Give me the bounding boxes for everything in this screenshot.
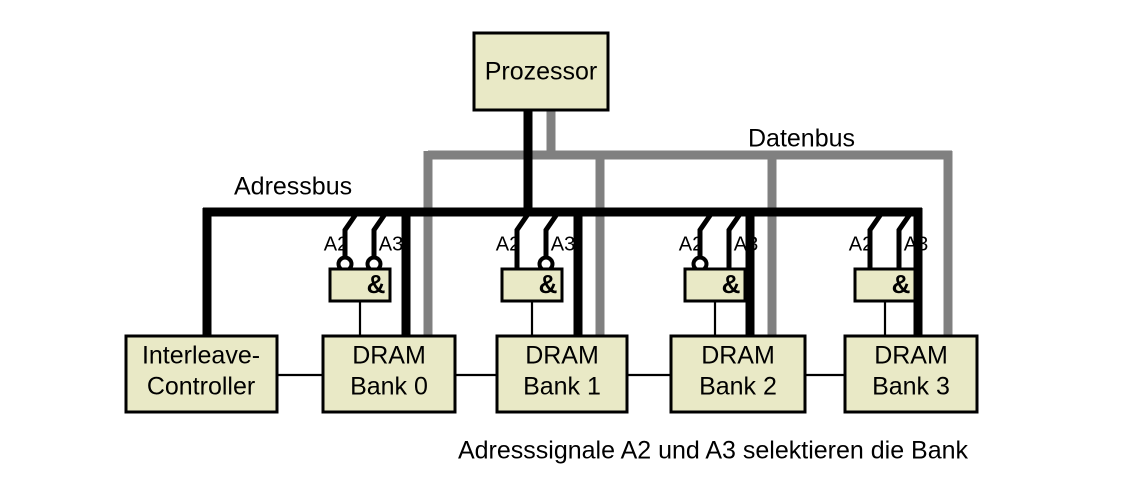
dram-bank-3-label-line1: DRAM	[874, 342, 948, 370]
dram-bank-1-label-line2: Bank 1	[523, 373, 601, 401]
dram-bank-3-label-line2: Bank 3	[872, 373, 950, 401]
dram-bank-1-label-line1: DRAM	[525, 342, 599, 370]
processor-label: Prozessor	[485, 58, 598, 86]
interleave-controller-label-line1: Interleave-	[142, 342, 260, 370]
dram-bank-0-label-line1: DRAM	[352, 342, 426, 370]
a3-label-bank2: A3	[734, 233, 758, 255]
a3-label-bank3: A3	[904, 233, 928, 255]
data-bus-label: Datenbus	[748, 125, 855, 153]
diagram-canvas: Adressbus Datenbus Prozessor A2 A3 & A2	[0, 0, 1146, 500]
gate-symbol-bank2: &	[722, 269, 741, 299]
gate-symbol-bank0: &	[367, 269, 386, 299]
a2-label-bank1: A2	[496, 233, 520, 255]
dram-bank-1-node[interactable]: DRAM Bank 1	[497, 336, 627, 412]
decode-group-bank1: A2 A3 &	[496, 214, 575, 336]
interleaving-diagram: Adressbus Datenbus Prozessor A2 A3 & A2	[0, 0, 1146, 500]
address-bus-label: Adressbus	[234, 173, 352, 201]
dram-bank-2-label-line1: DRAM	[701, 342, 775, 370]
a2-label-bank0: A2	[324, 233, 348, 255]
processor-node[interactable]: Prozessor	[474, 33, 608, 110]
dram-bank-0-node[interactable]: DRAM Bank 0	[323, 336, 455, 412]
a3-label-bank0: A3	[379, 233, 403, 255]
interleave-controller-label-line2: Controller	[147, 373, 255, 401]
dram-bank-2-label-line2: Bank 2	[699, 373, 777, 401]
interleave-controller-node[interactable]: Interleave- Controller	[126, 336, 277, 412]
a2-label-bank3: A2	[849, 233, 873, 255]
dram-bank-0-label-line2: Bank 0	[350, 373, 428, 401]
a2-label-bank2: A2	[679, 233, 703, 255]
dram-bank-2-node[interactable]: DRAM Bank 2	[671, 336, 805, 412]
gate-symbol-bank3: &	[892, 269, 911, 299]
diagram-caption: Adresssignale A2 und A3 selektieren die …	[458, 437, 969, 465]
gate-symbol-bank1: &	[539, 269, 558, 299]
decode-group-bank0: A2 A3 &	[324, 214, 403, 336]
dram-bank-3-node[interactable]: DRAM Bank 3	[845, 336, 977, 412]
a3-label-bank1: A3	[551, 233, 575, 255]
